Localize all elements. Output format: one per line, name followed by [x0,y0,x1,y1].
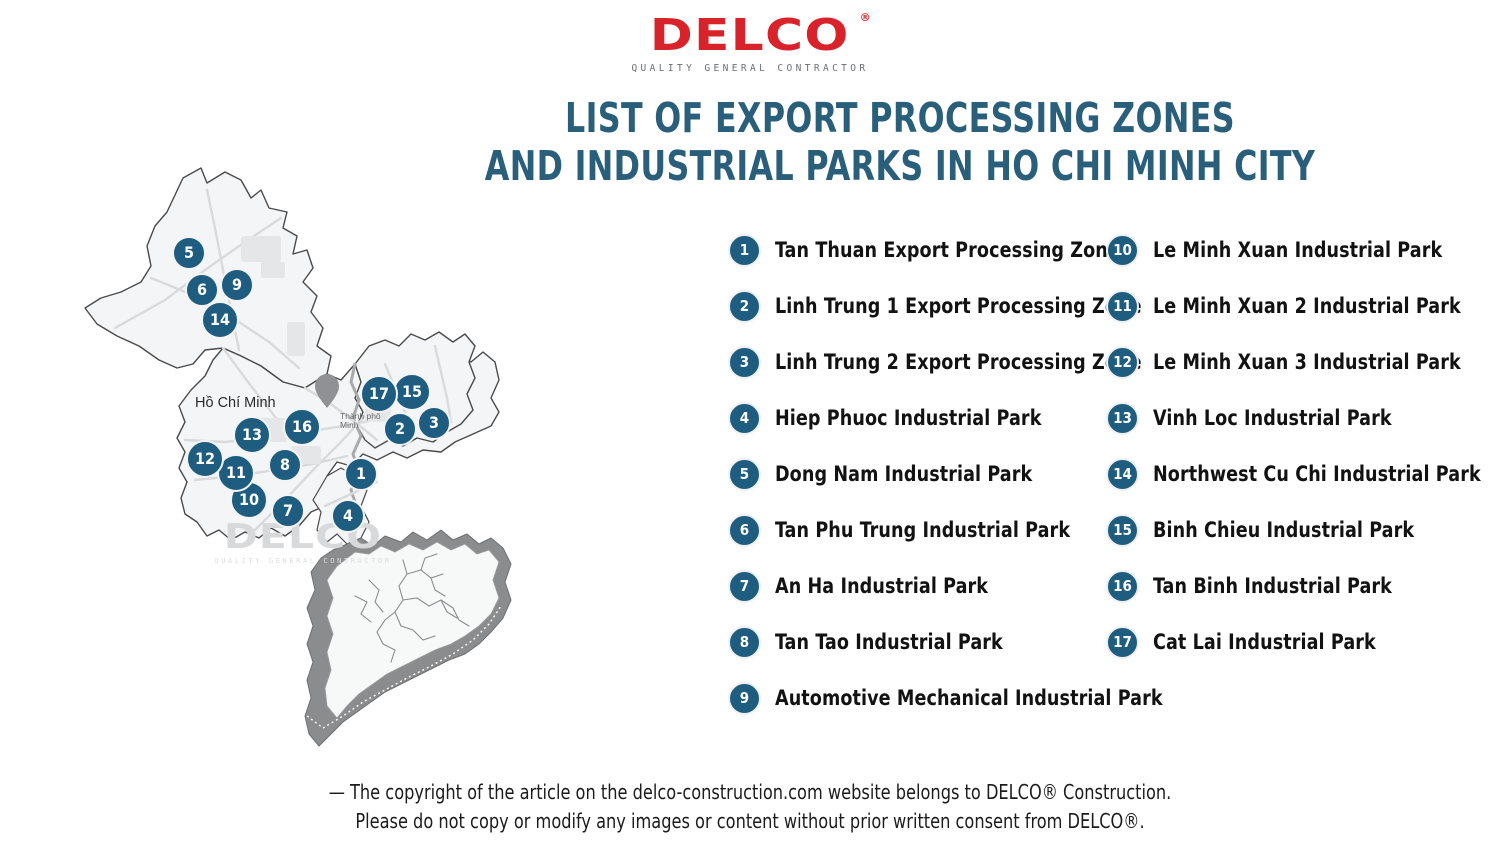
legend-label: Linh Trung 1 Export Processing Zone [775,294,1142,318]
legend-label: Tan Binh Industrial Park [1153,574,1392,598]
legend-item[interactable]: 9Automotive Mechanical Industrial Park [728,670,1108,726]
copyright-footer: — The copyright of the article on the de… [0,778,1500,836]
legend-item[interactable]: 13Vinh Loc Industrial Park [1106,390,1486,446]
legend-item[interactable]: 11Le Minh Xuan 2 Industrial Park [1106,278,1486,334]
legend-badge-11: 11 [1106,290,1139,323]
legend-item[interactable]: 15Binh Chieu Industrial Park [1106,502,1486,558]
legend-badge-3: 3 [728,346,761,379]
legend-item[interactable]: 1Tan Thuan Export Processing Zone [728,222,1108,278]
legend-item[interactable]: 10Le Minh Xuan Industrial Park [1106,222,1486,278]
legend-badge-6: 6 [728,514,761,547]
legend-item[interactable]: 2Linh Trung 1 Export Processing Zone [728,278,1108,334]
legend-badge-17: 17 [1106,626,1139,659]
map-marker-14[interactable]: 14 [201,301,239,339]
legend-badge-9: 9 [728,682,761,715]
legend-badge-2: 2 [728,290,761,323]
map-marker-16[interactable]: 16 [283,408,321,446]
legend-item[interactable]: 7An Ha Industrial Park [728,558,1108,614]
map-svg [55,150,595,790]
map-marker-7[interactable]: 7 [271,494,305,528]
legend-label: Binh Chieu Industrial Park [1153,518,1414,542]
map-marker-4[interactable]: 4 [331,499,365,533]
legend-label: Le Minh Xuan 3 Industrial Park [1153,350,1461,374]
legend-badge-12: 12 [1106,346,1139,379]
map-city-label: Hồ Chí Minh [195,395,276,411]
legend-badge-4: 4 [728,402,761,435]
legend-item[interactable]: 5Dong Nam Industrial Park [728,446,1108,502]
registered-trademark-icon: ® [860,12,872,23]
logo-tagline: QUALITY GENERAL CONTRACTOR [0,63,1500,74]
legend-badge-14: 14 [1106,458,1139,491]
map-marker-3[interactable]: 3 [417,406,451,440]
legend-item[interactable]: 16Tan Binh Industrial Park [1106,558,1486,614]
logo-wordmark-text: DELCO [650,10,850,61]
legend-item[interactable]: 3Linh Trung 2 Export Processing Zone [728,334,1108,390]
legend-label: Le Minh Xuan 2 Industrial Park [1153,294,1461,318]
logo-wordmark: DELCO ® [650,14,850,58]
map-marker-1[interactable]: 1 [344,457,378,491]
map-marker-8[interactable]: 8 [268,448,302,482]
map-marker-5[interactable]: 5 [172,236,206,270]
legend-badge-10: 10 [1106,234,1139,267]
legend-badge-7: 7 [728,570,761,603]
legend-label: Vinh Loc Industrial Park [1153,406,1392,430]
map-marker-15[interactable]: 15 [393,373,431,411]
legend-label: Automotive Mechanical Industrial Park [775,686,1163,710]
page-title-line-1: LIST OF EXPORT PROCESSING ZONES [410,95,1390,143]
copyright-line-1: — The copyright of the article on the de… [75,778,1425,807]
legend-label: Linh Trung 2 Export Processing Zone [775,350,1142,374]
legend-item[interactable]: 6Tan Phu Trung Industrial Park [728,502,1108,558]
ho-chi-minh-city-map: DELCO QUALITY GENERAL CONTRACTOR Hồ Chí … [55,150,595,790]
legend-label: Tan Phu Trung Industrial Park [775,518,1070,542]
legend-column-left: 1Tan Thuan Export Processing Zone2Linh T… [728,222,1108,726]
legend-label: An Ha Industrial Park [775,574,988,598]
map-pin-label-line-2: Minh [340,420,358,430]
legend-column-right: 10Le Minh Xuan Industrial Park11Le Minh … [1106,222,1486,670]
legend-label: Cat Lai Industrial Park [1153,630,1376,654]
legend-item[interactable]: 14Northwest Cu Chi Industrial Park [1106,446,1486,502]
legend-label: Le Minh Xuan Industrial Park [1153,238,1442,262]
legend-label: Northwest Cu Chi Industrial Park [1153,462,1481,486]
legend-item[interactable]: 12Le Minh Xuan 3 Industrial Park [1106,334,1486,390]
legend-label: Tan Tao Industrial Park [775,630,1003,654]
legend-badge-13: 13 [1106,402,1139,435]
legend-badge-16: 16 [1106,570,1139,603]
copyright-line-2: Please do not copy or modify any images … [75,807,1425,836]
legend-label: Hiep Phuoc Industrial Park [775,406,1041,430]
legend-item[interactable]: 4Hiep Phuoc Industrial Park [728,390,1108,446]
map-marker-13[interactable]: 13 [233,416,271,454]
legend-label: Dong Nam Industrial Park [775,462,1032,486]
legend-badge-15: 15 [1106,514,1139,547]
map-marker-17[interactable]: 17 [360,375,398,413]
brand-logo: DELCO ® QUALITY GENERAL CONTRACTOR [0,14,1500,74]
legend-badge-5: 5 [728,458,761,491]
legend-badge-1: 1 [728,234,761,267]
legend-badge-8: 8 [728,626,761,659]
legend-item[interactable]: 8Tan Tao Industrial Park [728,614,1108,670]
map-marker-12[interactable]: 12 [186,440,224,478]
legend-item[interactable]: 17Cat Lai Industrial Park [1106,614,1486,670]
map-marker-9[interactable]: 9 [220,268,254,302]
infographic-page: DELCO ® QUALITY GENERAL CONTRACTOR LIST … [0,0,1500,846]
map-pin-label: Thành phố Minh [340,412,381,431]
map-marker-2[interactable]: 2 [383,412,417,446]
legend-label: Tan Thuan Export Processing Zone [775,238,1120,262]
